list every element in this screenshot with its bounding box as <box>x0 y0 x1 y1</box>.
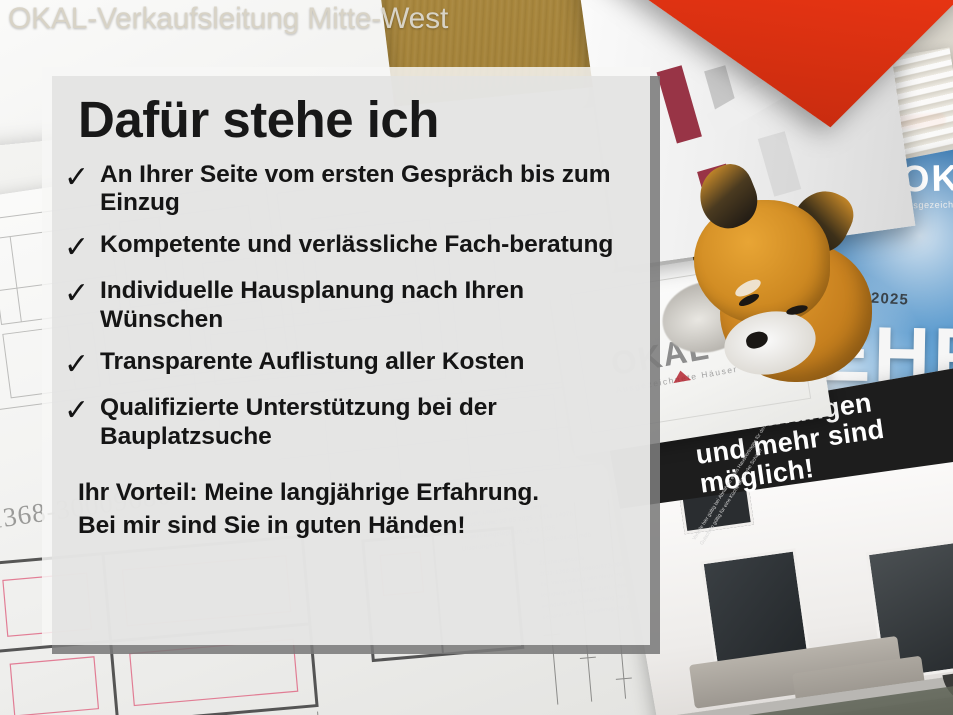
list-item: ✓ Qualifizierte Unterstützung bei der Ba… <box>64 394 624 451</box>
content-panel: Dafür stehe ich ✓ An Ihrer Seite vom ers… <box>42 67 650 645</box>
list-item-label: Qualifizierte Unterstützung bei der Baup… <box>100 394 620 451</box>
check-icon: ✓ <box>64 277 100 309</box>
check-icon: ✓ <box>64 394 100 426</box>
closing-statement: Ihr Vorteil: Meine langjährige Erfahrung… <box>78 477 624 543</box>
list-item-label: Individuelle Hausplanung nach Ihren Wüns… <box>100 277 620 334</box>
list-item: ✓ Transparente Auflistung aller Kosten <box>64 348 624 380</box>
list-item-label: Kompetente und verlässliche Fach-beratun… <box>100 231 613 259</box>
list-item: ✓ Kompetente und verlässliche Fach-berat… <box>64 231 624 263</box>
benefits-list: ✓ An Ihrer Seite vom ersten Gespräch bis… <box>64 161 624 451</box>
check-icon: ✓ <box>64 348 100 380</box>
slide-canvas: 1368-30009680 Datum: Unterschrift Bauher… <box>0 0 953 715</box>
page-title: Dafür stehe ich <box>78 93 624 147</box>
list-item: ✓ An Ihrer Seite vom ersten Gespräch bis… <box>64 161 624 218</box>
check-icon: ✓ <box>64 231 100 263</box>
model-house-window-1 <box>657 65 702 143</box>
list-item-label: Transparente Auflistung aller Kosten <box>100 348 524 376</box>
list-item-label: An Ihrer Seite vom ersten Gespräch bis z… <box>100 161 620 218</box>
list-item: ✓ Individuelle Hausplanung nach Ihren Wü… <box>64 277 624 334</box>
plush-fox-figurine <box>668 160 878 382</box>
check-icon: ✓ <box>64 161 100 193</box>
top-banner-title: OKAL-Verkaufsleitung Mitte-West <box>0 0 456 38</box>
